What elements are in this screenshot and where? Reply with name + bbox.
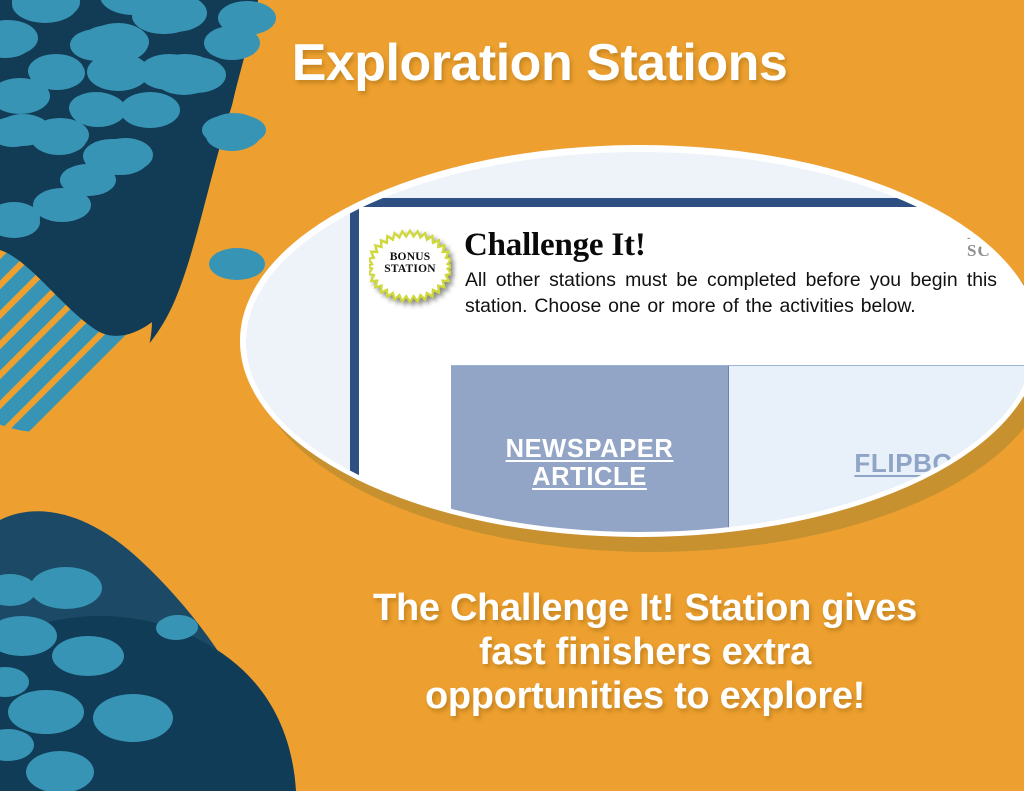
- activity-table: NEWSPAPER ARTICLE FLIPBOOK: [451, 365, 1024, 532]
- brand-line2: SCIENCE: [967, 242, 1024, 259]
- oval-image-frame: BONUS STATION Challenge It! All other st…: [246, 152, 1024, 532]
- starburst-seal-icon: BONUS STATION: [369, 225, 451, 307]
- brand-line1: KESLER: [967, 225, 1024, 242]
- caption-line-3: opportunities to explore!: [245, 674, 1024, 718]
- badge-label: BONUS STATION: [369, 251, 451, 276]
- caption-line-1: The Challenge It! Station gives: [245, 586, 1024, 630]
- page-title: Exploration Stations: [0, 33, 1024, 93]
- activity-cell-newspaper-article[interactable]: NEWSPAPER ARTICLE: [451, 366, 729, 532]
- badge-label-line1: BONUS: [390, 251, 431, 263]
- station-document: BONUS STATION Challenge It! All other st…: [350, 198, 1024, 532]
- badge-label-line2: STATION: [384, 263, 435, 275]
- kesler-science-logo: KESLER SCIENCE: [967, 225, 1024, 259]
- slide-canvas: Exploration Stations BONUS STATION Chall…: [0, 0, 1024, 791]
- slide-caption: The Challenge It! Station gives fast fin…: [245, 586, 1024, 718]
- document-body-text: All other stations must be completed bef…: [465, 268, 997, 319]
- activity-cell-flipbook[interactable]: FLIPBOOK: [729, 366, 1024, 532]
- document-page: BONUS STATION Challenge It! All other st…: [359, 207, 1024, 532]
- document-heading: Challenge It!: [464, 227, 646, 264]
- caption-line-2: fast finishers extra: [245, 630, 1024, 674]
